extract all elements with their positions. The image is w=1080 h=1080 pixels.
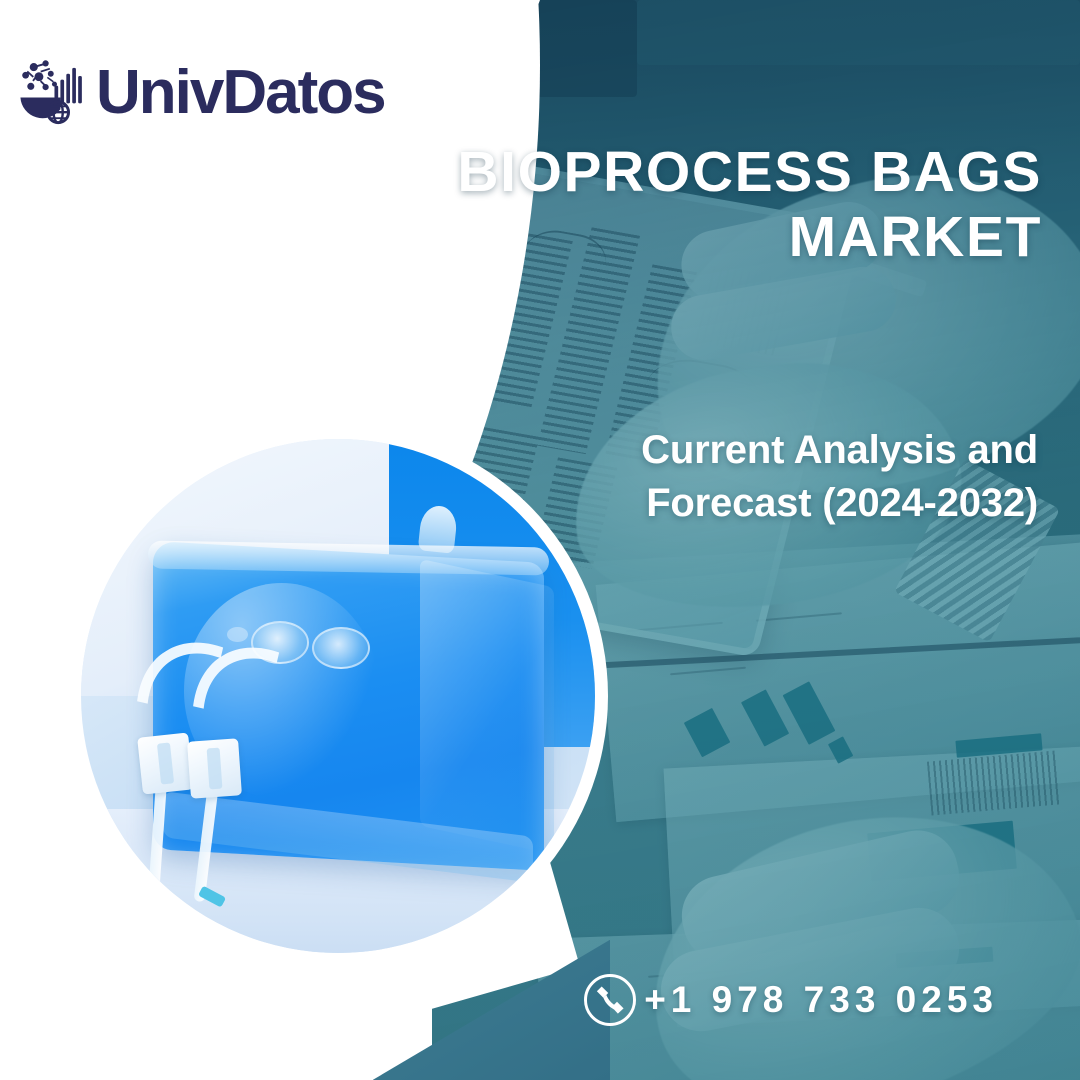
bag-port-small <box>227 627 248 642</box>
subtitle-line-1: Current Analysis and <box>568 424 1038 477</box>
bag-fold <box>420 558 554 854</box>
tube-clamp <box>137 732 194 794</box>
subtitle-line-2: Forecast (2024-2032) <box>568 477 1038 530</box>
univdatos-network-globe-chart-icon <box>16 56 90 130</box>
tube-clamp <box>187 738 242 798</box>
page-subtitle: Current Analysis and Forecast (2024-2032… <box>568 424 1038 530</box>
contact-phone[interactable]: +1 978 733 0253 <box>582 972 998 1028</box>
poster-canvas: UnivDatos BIOPROCESS BAGS MARKET Current… <box>0 0 1080 1080</box>
product-image-circle <box>68 426 608 966</box>
phone-number-text: +1 978 733 0253 <box>644 979 998 1021</box>
bag-port <box>312 627 370 670</box>
brand-name: UnivDatos <box>96 62 385 124</box>
brand-logo[interactable]: UnivDatos <box>16 56 385 130</box>
bioprocess-bag-photo <box>81 439 595 953</box>
phone-handset-icon <box>582 972 638 1028</box>
title-line-1: BIOPROCESS BAGS <box>422 140 1042 205</box>
title-line-2: MARKET <box>422 205 1042 270</box>
page-title: BIOPROCESS BAGS MARKET <box>422 140 1042 270</box>
